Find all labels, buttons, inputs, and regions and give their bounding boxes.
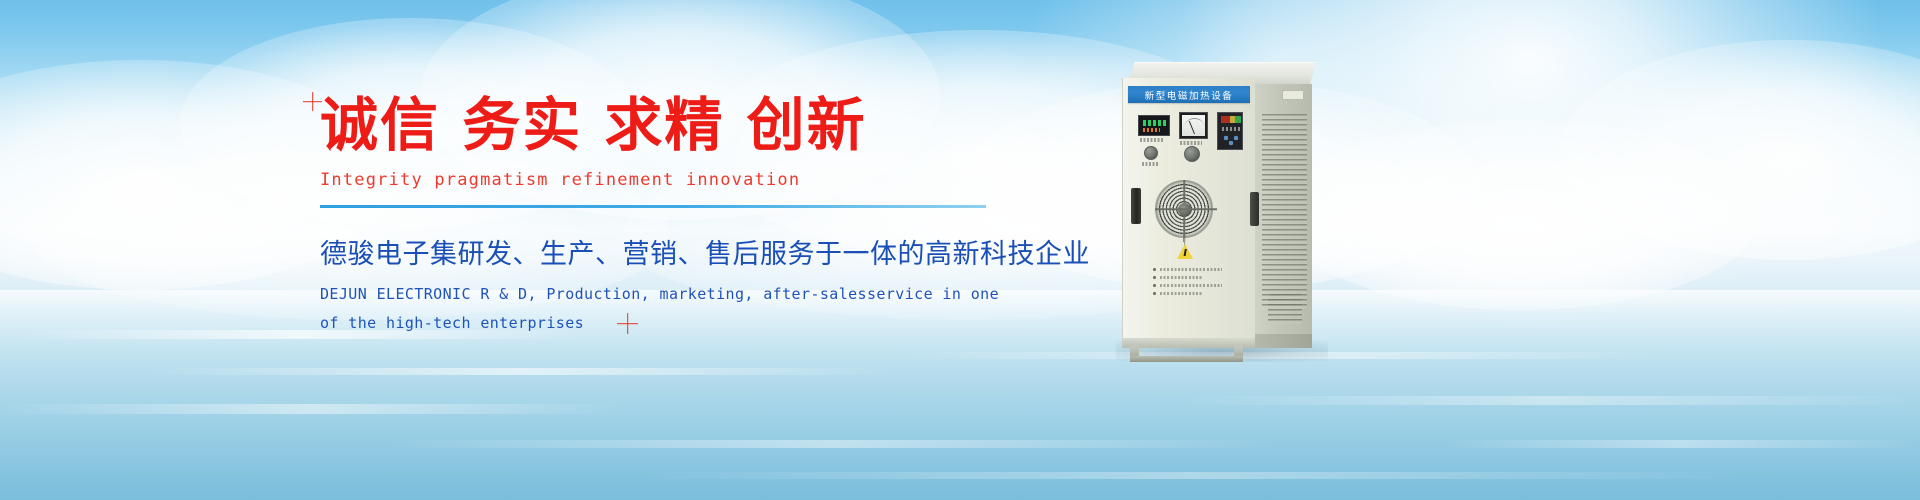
cloud-shape — [1560, 40, 1920, 260]
cabinet-foot-rail — [1130, 356, 1243, 362]
rotary-knob — [1184, 146, 1200, 162]
spec-line — [1160, 292, 1202, 295]
gauge-scale-arc — [1185, 118, 1204, 126]
panel-label — [1180, 141, 1202, 145]
water-streak — [0, 404, 620, 414]
brand-plate: 新型电磁加热设备 — [1128, 86, 1250, 103]
side-label — [1282, 90, 1304, 100]
spec-text-block — [1160, 268, 1222, 300]
keypad-readout — [1222, 127, 1240, 131]
banner-copy: 诚信 务实 求精 创新 Integrity pragmatism refinem… — [320, 92, 1020, 337]
brand-plate-text: 新型电磁加热设备 — [1145, 88, 1234, 102]
cloud-shape — [1280, 120, 1760, 310]
divider-rule — [320, 205, 986, 208]
hero-banner: 诚信 务实 求精 创新 Integrity pragmatism refinem… — [0, 0, 1920, 500]
cabinet-side-base — [1255, 334, 1312, 348]
water-streak — [140, 368, 900, 375]
keypad-indicator-lights — [1221, 116, 1241, 123]
banner-headline-cn: 诚信 务实 求精 创新 — [320, 92, 1020, 158]
water-streak — [1440, 440, 1920, 448]
spec-line — [1160, 268, 1222, 271]
water-streak — [640, 472, 1740, 479]
spec-line — [1160, 284, 1222, 287]
spec-line — [1160, 276, 1202, 279]
water-streak — [380, 440, 1280, 448]
gauge-face — [1182, 115, 1205, 136]
product-image-induction-heater: 新型电磁加热设备 — [1122, 62, 1322, 362]
panel-label — [1140, 138, 1164, 142]
banner-subtitle-en-line1: DEJUN ELECTRONIC R & D, Production, mark… — [320, 281, 1020, 308]
rotary-switch — [1144, 146, 1158, 160]
panel-label — [1142, 162, 1158, 166]
ventilation-louvers-lower — [1268, 294, 1302, 324]
fan-hub — [1178, 203, 1191, 216]
digital-controller-display — [1138, 115, 1170, 136]
display-segment-row — [1143, 120, 1167, 126]
cabinet-door-handle — [1131, 188, 1141, 224]
cabinet-edge-handle — [1250, 192, 1259, 226]
ventilation-louvers — [1262, 114, 1307, 309]
control-keypad — [1217, 112, 1243, 150]
banner-subtitle-en-line2: of the high-tech enterprises — [320, 310, 1020, 337]
display-segment-row2 — [1143, 128, 1160, 132]
cooling-fan-grille — [1155, 180, 1213, 238]
banner-subtitle-cn: 德骏电子集研发、生产、营销、售后服务于一体的高新科技企业 — [320, 232, 1020, 271]
analog-ammeter — [1179, 112, 1208, 139]
water-streak — [1180, 396, 1920, 405]
keypad-buttons — [1222, 134, 1240, 147]
banner-headline-en: Integrity pragmatism refinement innovati… — [320, 170, 1020, 190]
